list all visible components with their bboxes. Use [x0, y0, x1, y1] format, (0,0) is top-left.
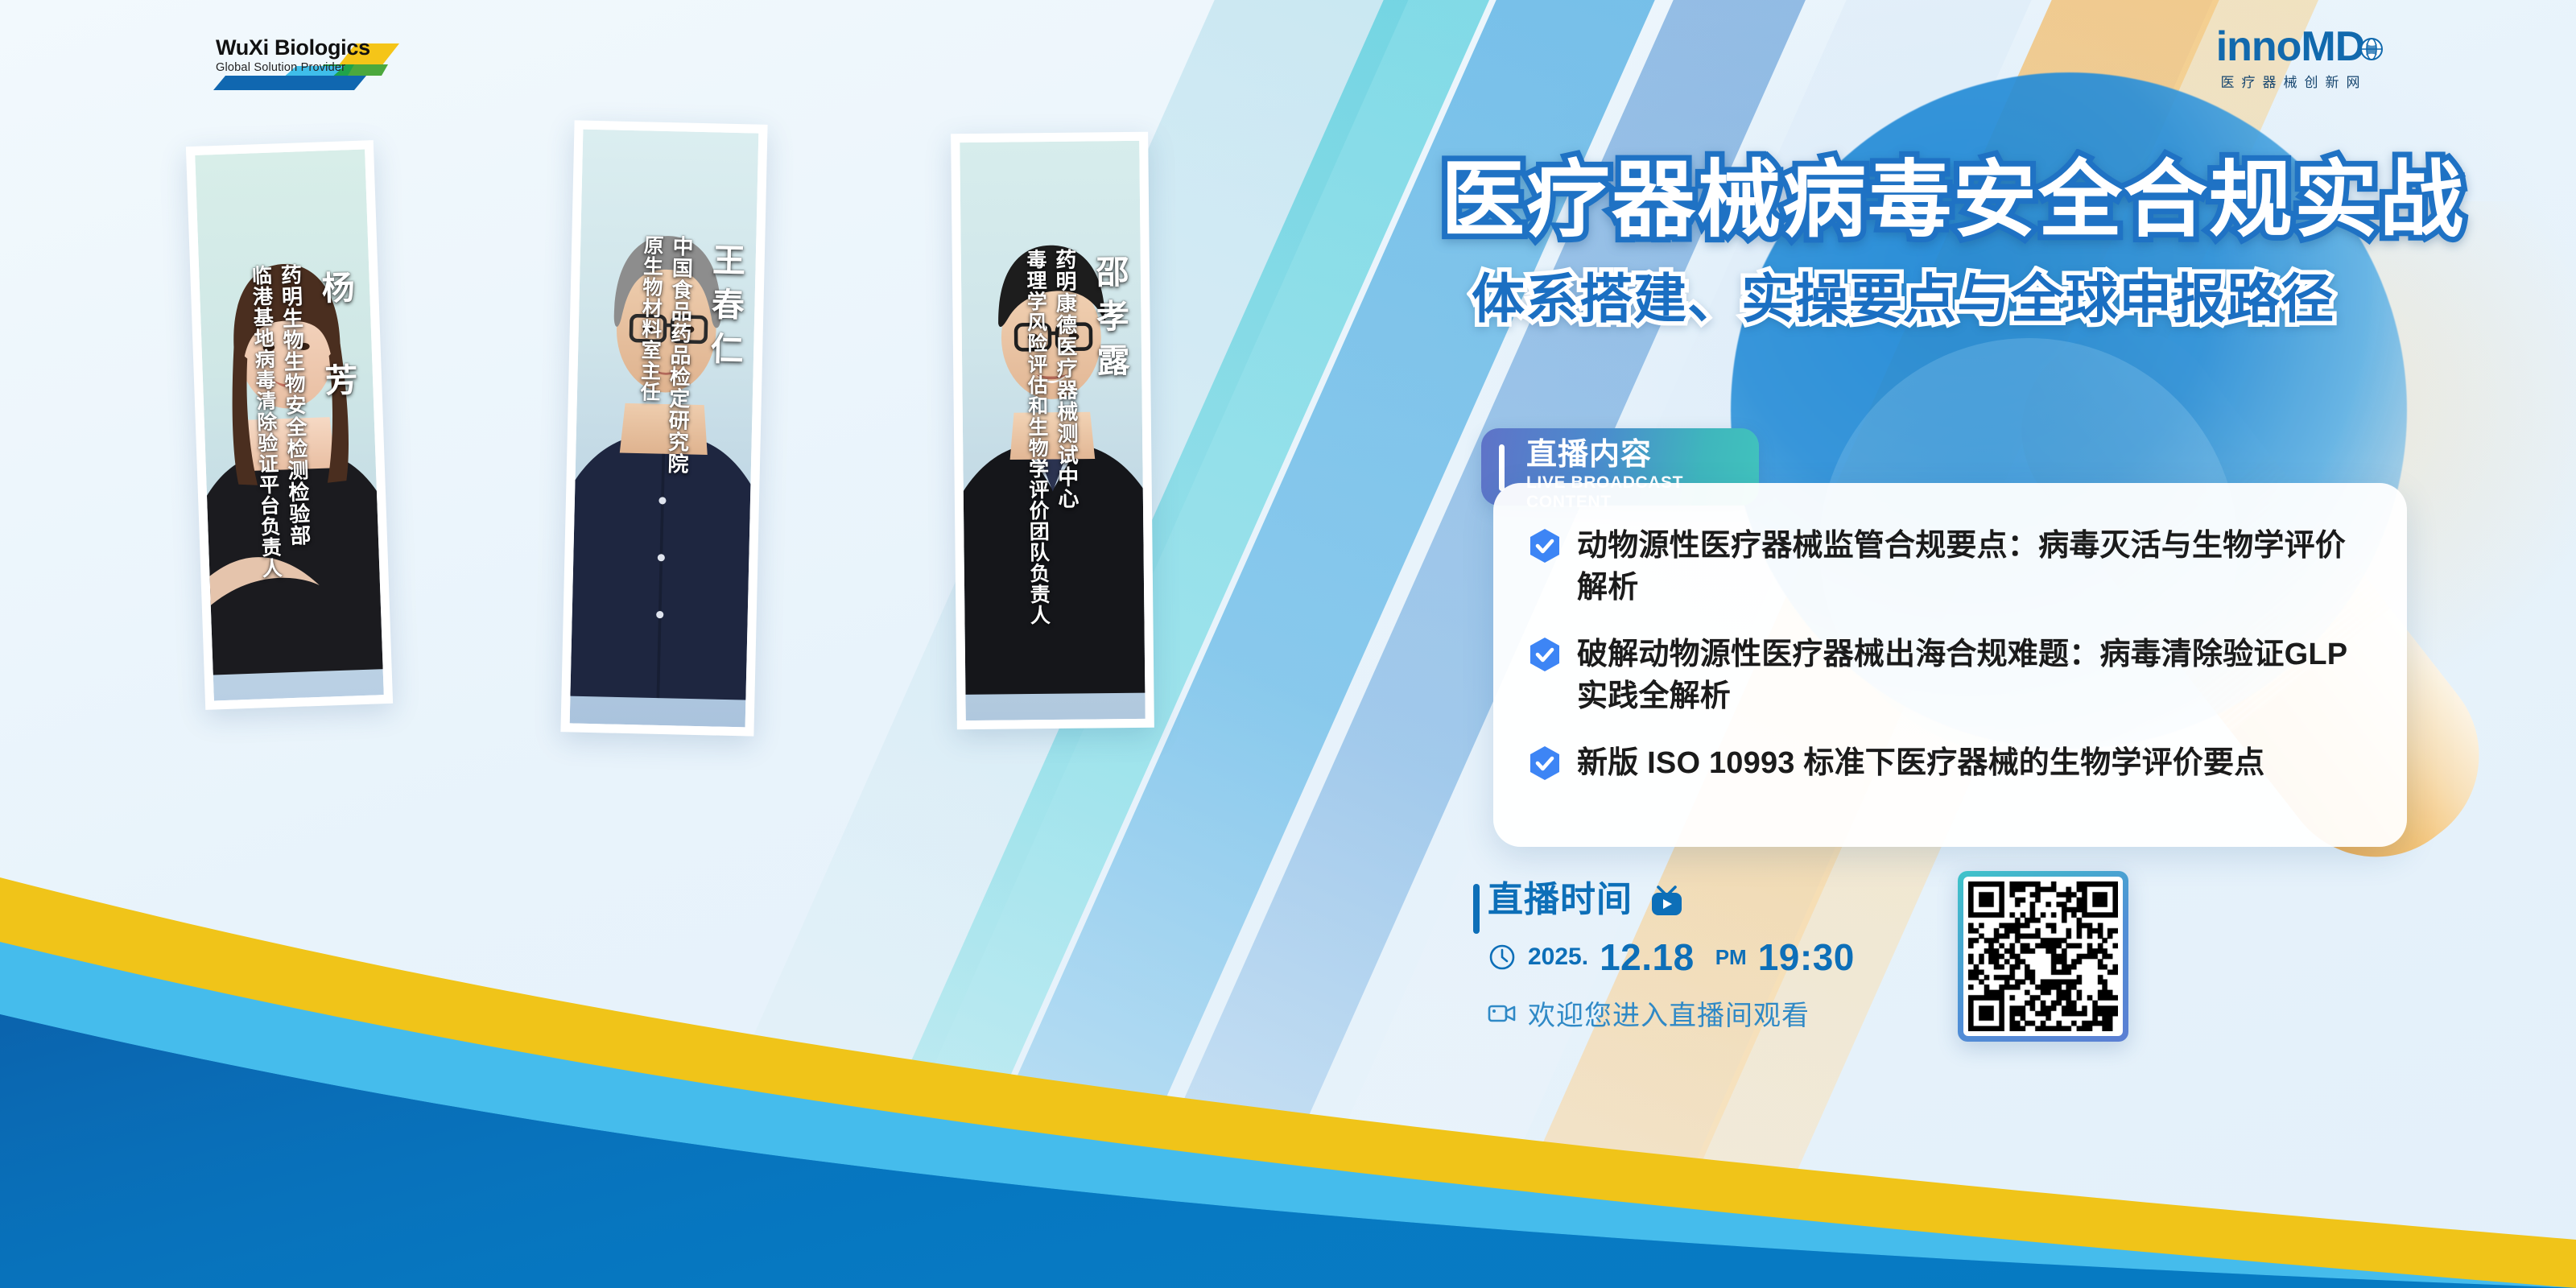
content-list: 动物源性医疗器械监管合规要点：病毒灭活与生物学评价解析 破解动物源性医疗器械出海… — [1529, 525, 2368, 784]
speaker-portrait-3 — [960, 141, 1146, 720]
speaker-name-1: 杨 芳 — [317, 270, 355, 407]
check-hexagon-icon — [1529, 637, 1561, 672]
content-list-item: 破解动物源性医疗器械出海合规难题：病毒清除验证GLP实践全解析 — [1529, 634, 2368, 718]
content-item-text: 动物源性医疗器械监管合规要点：病毒灭活与生物学评价解析 — [1577, 525, 2368, 609]
badge-accent-bar — [1499, 444, 1505, 491]
schedule-year: 2025. — [1528, 943, 1588, 971]
speaker-card-1: 杨 芳 药明生物生物安全检测检验部 临港基地病毒清除验证平台负责人 — [186, 140, 393, 710]
content-list-item: 新版 ISO 10993 标准下医疗器械的生物学评价要点 — [1529, 742, 2368, 784]
schedule-accent-bar — [1473, 884, 1480, 934]
schedule-ampm: PM — [1715, 945, 1747, 970]
qr-code-inner — [1963, 877, 2123, 1036]
globe-icon — [2359, 37, 2384, 61]
speaker-org-3: 药明康德医疗器械测试中心 — [1055, 249, 1078, 510]
speaker-gallery: 杨 芳 药明生物生物安全检测检验部 临港基地病毒清除验证平台负责人 — [0, 0, 1368, 950]
qr-code[interactable] — [1958, 871, 2128, 1042]
speaker-card-3: 邵孝露 药明康德医疗器械测试中心 毒理学风险评估和生物学评价团队负责人 — [951, 132, 1154, 730]
speaker-photo-3 — [960, 141, 1146, 720]
speaker-portrait-2 — [570, 130, 759, 728]
speaker-name-2: 王春仁 — [707, 242, 743, 376]
sub-title: 体系搭建、实操要点与全球申报路径 — [1472, 271, 2512, 327]
schedule-time: 19:30 — [1758, 935, 1855, 979]
schedule-label: 直播时间 — [1488, 882, 1633, 918]
speaker-card-2: 王春仁 中国食品药品检定研究院 原生物材料室主任 — [560, 120, 767, 736]
schedule-note: 欢迎您进入直播间观看 — [1528, 993, 1810, 1033]
video-camera-icon — [1488, 1001, 1517, 1026]
check-hexagon-icon — [1529, 745, 1561, 781]
clock-icon — [1488, 943, 1517, 972]
speaker-role-2: 原生物材料室主任 — [638, 234, 663, 402]
main-title: 医疗器械病毒安全合规实战 — [1441, 157, 2512, 244]
check-hexagon-icon — [1529, 528, 1561, 563]
innomd-chinese-name: 医疗器械创新网 — [2169, 71, 2411, 91]
content-item-text: 破解动物源性医疗器械出海合规难题：病毒清除验证GLP实践全解析 — [1577, 634, 2368, 718]
poster-canvas: WuXi Biologics Global Solution Provider … — [0, 0, 2576, 1288]
speaker-name-3: 邵孝露 — [1092, 254, 1127, 387]
tv-play-icon — [1645, 879, 1687, 921]
content-item-text: 新版 ISO 10993 标准下医疗器械的生物学评价要点 — [1577, 742, 2264, 784]
title-block: 医疗器械病毒安全合规实战 体系搭建、实操要点与全球申报路径 — [1441, 157, 2512, 327]
innomd-logo: innoMD 医疗器械创新网 — [2169, 24, 2411, 97]
qr-code-bitmap — [1968, 881, 2118, 1031]
speaker-role-3: 毒理学风险评估和生物学评价团队负责人 — [1025, 249, 1049, 625]
speaker-org-2: 中国食品药品检定研究院 — [667, 235, 693, 475]
live-content-card: 动物源性医疗器械监管合规要点：病毒灭活与生物学评价解析 破解动物源性医疗器械出海… — [1493, 483, 2407, 847]
badge-title-cn: 直播内容 — [1526, 440, 1759, 471]
content-list-item: 动物源性医疗器械监管合规要点：病毒灭活与生物学评价解析 — [1529, 525, 2368, 609]
schedule-date: 12.18 — [1600, 935, 1695, 979]
innomd-wordmark: innoMD — [2216, 23, 2365, 70]
speaker-photo-2 — [570, 130, 759, 728]
